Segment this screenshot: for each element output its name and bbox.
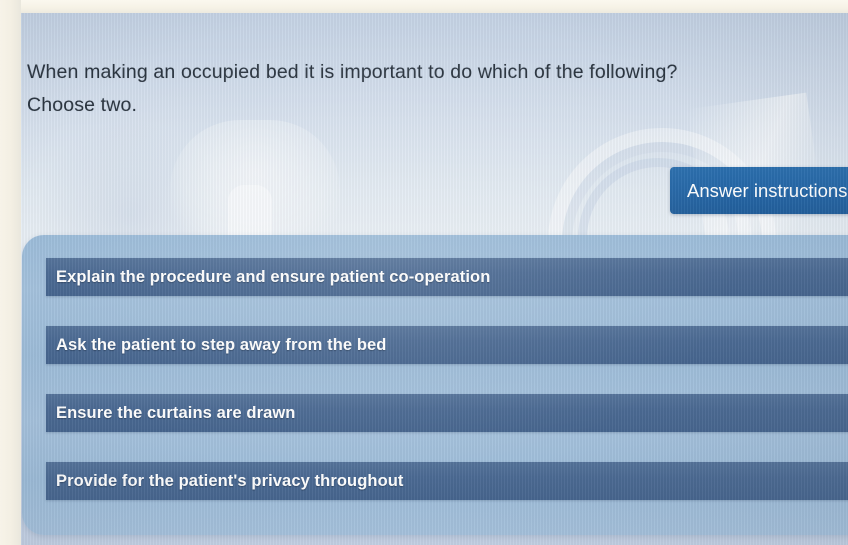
photo-edge-top [0,0,848,13]
answer-option-2-label: Ask the patient to step away from the be… [56,336,387,355]
question-line-2: Choose two. [27,89,817,122]
answer-option-1-label: Explain the procedure and ensure patient… [56,268,490,287]
answer-instructions-button[interactable]: Answer instructions [670,167,848,214]
question-text: When making an occupied bed it is import… [27,56,817,122]
answer-option-4-label: Provide for the patient's privacy throug… [56,472,404,491]
answer-option-2[interactable]: Ask the patient to step away from the be… [46,326,848,364]
answer-option-3-label: Ensure the curtains are drawn [56,404,295,423]
question-line-1: When making an occupied bed it is import… [27,56,817,89]
quiz-content: When making an occupied bed it is import… [0,0,848,545]
answer-option-1[interactable]: Explain the procedure and ensure patient… [46,258,848,296]
answer-option-3[interactable]: Ensure the curtains are drawn [46,394,848,432]
answer-option-4[interactable]: Provide for the patient's privacy throug… [46,462,848,500]
screen-photo: When making an occupied bed it is import… [0,0,848,545]
photo-edge-left [0,0,21,545]
answer-instructions-label: Answer instructions [687,180,847,202]
